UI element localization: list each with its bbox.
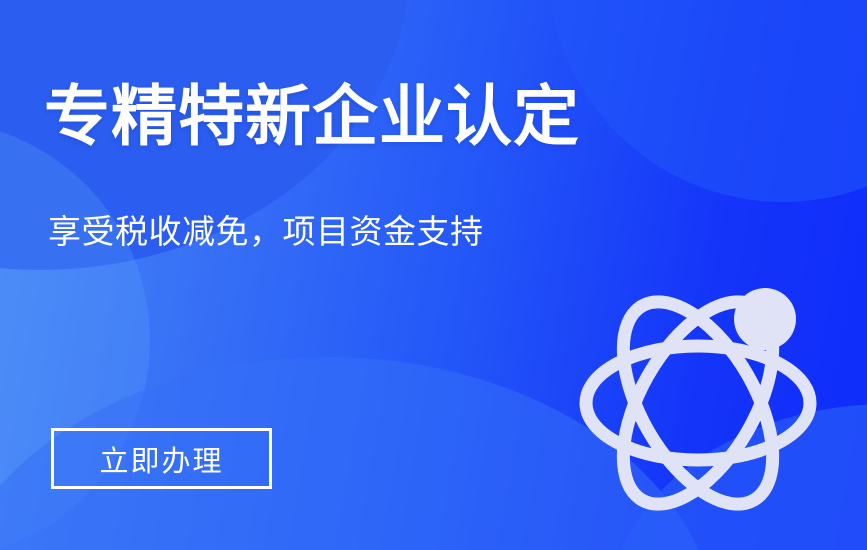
- banner-headline: 专精特新企业认定: [44, 82, 580, 151]
- promo-banner: 专精特新企业认定 享受税收减免，项目资金支持 立即办理: [0, 0, 867, 550]
- banner-content: 专精特新企业认定 享受税收减免，项目资金支持 立即办理: [0, 0, 867, 550]
- apply-now-button[interactable]: 立即办理: [51, 428, 272, 489]
- electron-dot-icon: [734, 288, 796, 350]
- banner-subheadline: 享受税收减免，项目资金支持: [48, 212, 484, 252]
- atom-icon: [578, 286, 828, 534]
